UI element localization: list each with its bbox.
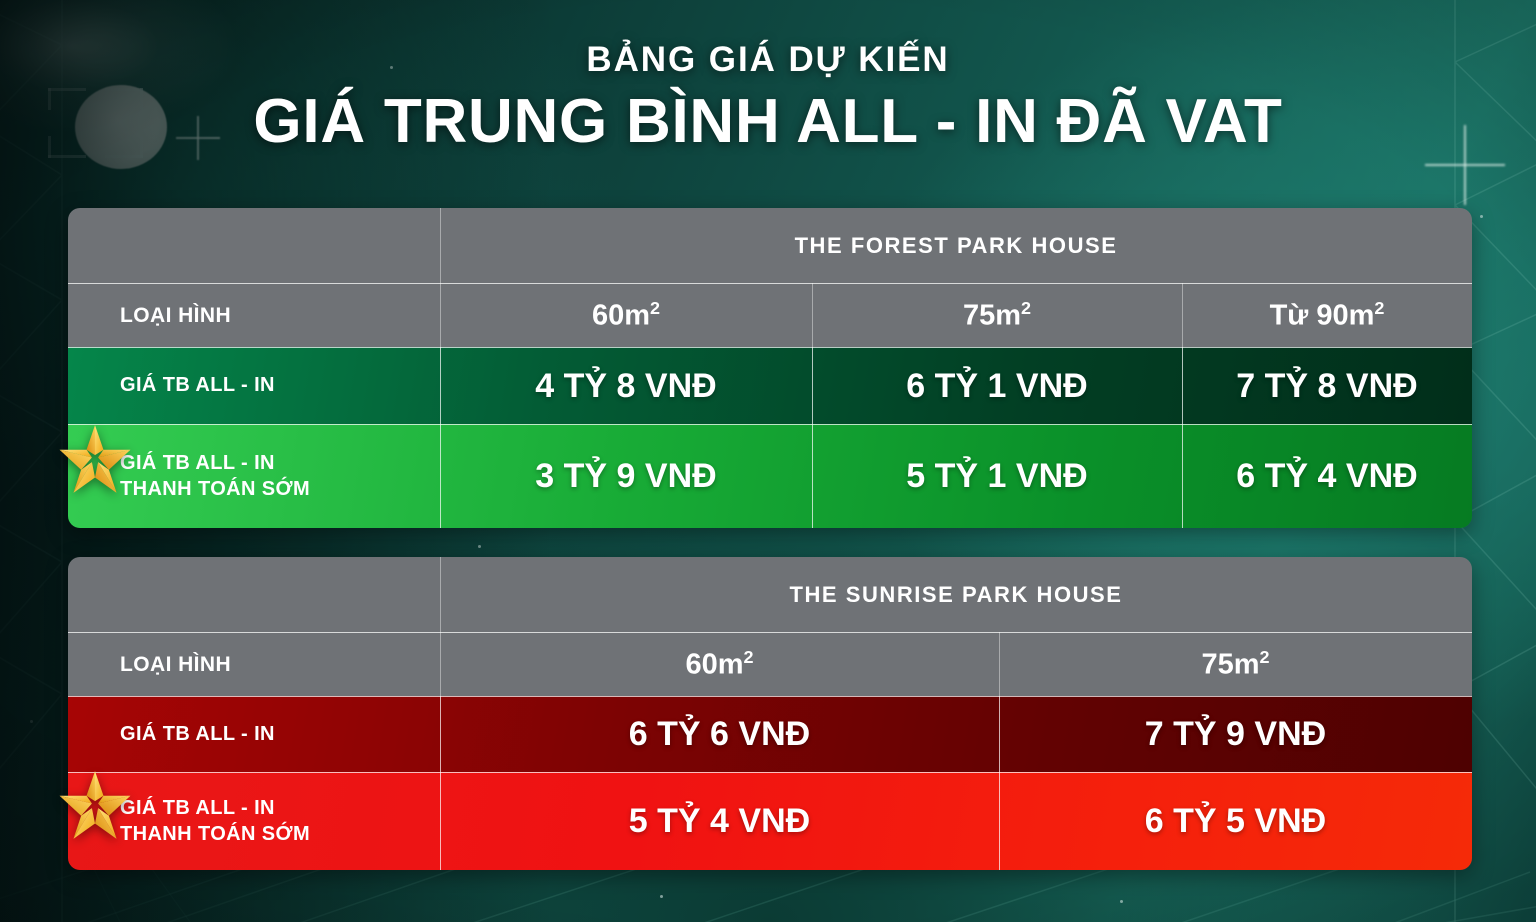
page-title: GIÁ TRUNG BÌNH ALL - IN ĐÃ VAT [0,85,1536,158]
table-sunrise-brand-label: THE SUNRISE PARK HOUSE [440,557,1472,632]
table-sunrise-row-early-label-line1: GIÁ TB ALL - IN [120,796,310,821]
table-forest-row-standard-label: GIÁ TB ALL - IN [68,348,440,424]
col-size-text: 75m [1201,649,1259,681]
table-sunrise-header-col-2: 75m2 [999,633,1472,696]
table-forest-row-early-payment: GIÁ TB ALL - IN THANH TOÁN SỚM 3 TỶ 9 VN… [68,424,1472,528]
table-sunrise-row-standard-label: GIÁ TB ALL - IN [68,697,440,772]
table-sunrise-row-early-value-75: 6 TỶ 5 VNĐ [999,773,1472,870]
table-forest-header-row: LOẠI HÌNH 60m2 75m2 Từ 90m2 [68,283,1472,347]
table-forest-row-standard-value-90: 7 TỶ 8 VNĐ [1182,348,1472,424]
page-title-block: BẢNG GIÁ DỰ KIẾN GIÁ TRUNG BÌNH ALL - IN… [0,42,1536,158]
table-sunrise-row-standard-value-60: 6 TỶ 6 VNĐ [440,697,999,772]
table-sunrise-brand-row: THE SUNRISE PARK HOUSE [68,557,1472,632]
col-size-superscript: 2 [744,647,754,667]
table-sunrise-header-col-1: 60m2 [440,633,999,696]
star-icon [56,768,134,842]
col-size-text: Từ 90m [1270,300,1375,332]
col-size-text: 60m [685,649,743,681]
star-icon [56,422,134,496]
price-table-sunrise: THE SUNRISE PARK HOUSE LOẠI HÌNH 60m2 75… [68,557,1472,870]
col-size-superscript: 2 [1374,298,1384,318]
table-forest-row-early-label-line1: GIÁ TB ALL - IN [120,451,310,476]
table-forest-header-col-2: 75m2 [812,284,1182,347]
table-sunrise-row-early-label-line2: THANH TOÁN SỚM [120,822,310,847]
table-sunrise-row-standard: GIÁ TB ALL - IN 6 TỶ 6 VNĐ 7 TỶ 9 VNĐ [68,696,1472,772]
table-forest-row-early-value-75: 5 TỶ 1 VNĐ [812,425,1182,528]
table-sunrise-header-loai-hinh: LOẠI HÌNH [68,633,440,696]
table-forest-row-standard: GIÁ TB ALL - IN 4 TỶ 8 VNĐ 6 TỶ 1 VNĐ 7 … [68,347,1472,424]
page-subtitle: BẢNG GIÁ DỰ KIẾN [0,42,1536,79]
table-forest-header-col-1: 60m2 [440,284,812,347]
table-forest-row-early-label-line2: THANH TOÁN SỚM [120,477,310,502]
table-sunrise-row-early-value-60: 5 TỶ 4 VNĐ [440,773,999,870]
table-sunrise-row-early-payment: GIÁ TB ALL - IN THANH TOÁN SỚM 5 TỶ 4 VN… [68,772,1472,870]
col-size-text: 60m [592,300,650,332]
table-forest-row-standard-value-60: 4 TỶ 8 VNĐ [440,348,812,424]
col-size-superscript: 2 [650,298,660,318]
table-forest-header-loai-hinh: LOẠI HÌNH [68,284,440,347]
table-forest-brand-spacer [68,208,440,283]
table-forest-brand-row: THE FOREST PARK HOUSE [68,208,1472,283]
table-forest-header-col-3: Từ 90m2 [1182,284,1472,347]
price-table-forest: THE FOREST PARK HOUSE LOẠI HÌNH 60m2 75m… [68,208,1472,528]
table-forest-row-early-value-90: 6 TỶ 4 VNĐ [1182,425,1472,528]
table-forest-brand-label: THE FOREST PARK HOUSE [440,208,1472,283]
table-forest-row-early-value-60: 3 TỶ 9 VNĐ [440,425,812,528]
col-size-superscript: 2 [1021,298,1031,318]
col-size-superscript: 2 [1260,647,1270,667]
table-forest-row-standard-value-75: 6 TỶ 1 VNĐ [812,348,1182,424]
table-sunrise-header-row: LOẠI HÌNH 60m2 75m2 [68,632,1472,696]
table-sunrise-row-standard-value-75: 7 TỶ 9 VNĐ [999,697,1472,772]
col-size-text: 75m [963,300,1021,332]
table-sunrise-brand-spacer [68,557,440,632]
